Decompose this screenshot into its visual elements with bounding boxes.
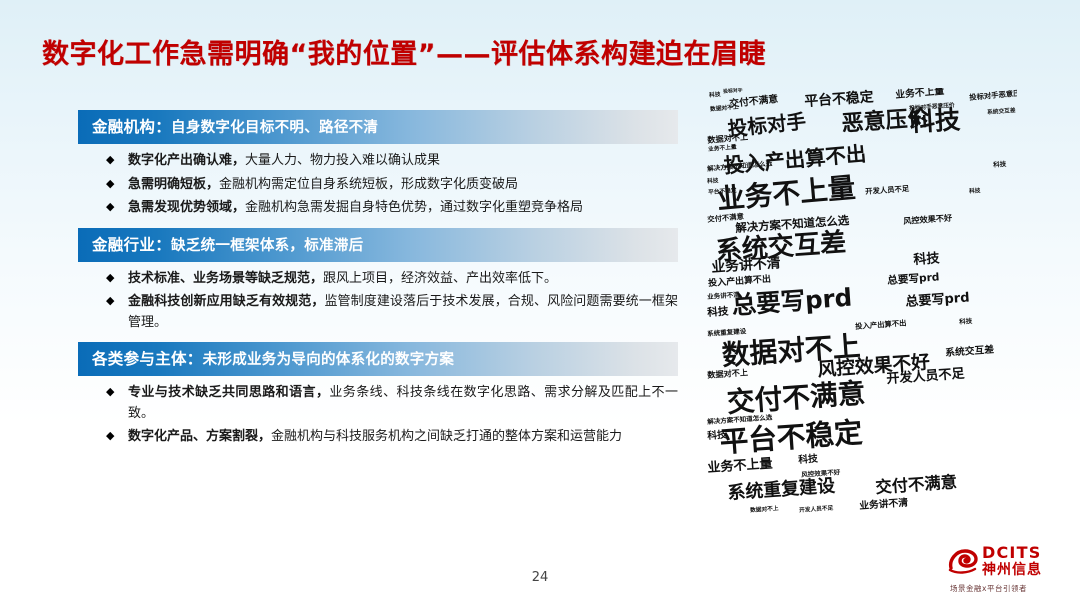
wordcloud-term: 业务不上量 [716, 174, 857, 214]
wordcloud-term: 风控效果不好 [903, 214, 952, 226]
wordcloud-term: 平台不稳定 [719, 418, 863, 456]
content-section: 各类参与主体：未形成业务为导向的体系化的数字方案◆专业与技术缺乏共同思路和语言，… [78, 342, 678, 448]
diamond-bullet-icon: ◆ [106, 175, 114, 193]
company-logo: DCITS 神州信息 场景金融x平台引领者 [948, 544, 1066, 596]
bullet-lead-text: 金融科技创新应用缺乏有效规范， [128, 294, 324, 309]
bullet-lead-text: 数字化产出确认难， [128, 153, 245, 168]
bullet-item: ◆数字化产出确认难，大量人力、物力投入难以确认成果 [106, 151, 678, 172]
diamond-bullet-icon: ◆ [106, 151, 114, 169]
page-number: 24 [0, 570, 1080, 585]
wordcloud-term: 数据对不上 [707, 368, 748, 379]
logo-english-name: DCITS [982, 545, 1042, 562]
wordcloud-term: 开发人员不足 [865, 185, 909, 195]
diamond-bullet-icon: ◆ [106, 269, 114, 287]
wordcloud-term: 交付不满意 [726, 380, 866, 417]
bullet-lead-text: 专业与技术缺乏共同思路和语言， [128, 385, 329, 400]
section-header-detail: 自身数字化目标不明、路径不清 [171, 120, 378, 136]
bullet-body-text: 金融机构急需发掘自身特色优势，通过数字化重塑竞争格局 [245, 200, 583, 215]
section-header: 金融机构：自身数字化目标不明、路径不清 [78, 110, 678, 144]
bullet-list: ◆技术标准、业务场景等缺乏规范，跟风上项目，经济效益、产出效率低下。◆金融科技创… [78, 269, 678, 334]
wordcloud-term: 科技 [909, 107, 961, 135]
bullet-body-text: 跟风上项目，经济效益、产出效率低下。 [323, 271, 557, 286]
bullet-item: ◆金融科技创新应用缺乏有效规范，监管制度建设落后于技术发展，合规、风险问题需要统… [106, 292, 678, 333]
bullet-lead-text: 急需发现优势领域， [128, 200, 245, 215]
section-header-detail: 缺乏统一框架体系，标准滞后 [171, 238, 363, 254]
wordcloud-term: 投标对手恶意压价 [969, 89, 1017, 101]
wordcloud-term: 总要写prd [905, 291, 970, 309]
wordcloud-term: 业务讲不清 [711, 257, 781, 276]
wordcloud-term: 业务讲不清 [859, 498, 908, 511]
section-header-detail: 未形成业务为导向的体系化的数字方案 [203, 352, 455, 368]
logo-text-block: DCITS 神州信息 [982, 545, 1042, 578]
wordcloud-term: 投入产出算不出 [708, 276, 771, 289]
diamond-bullet-icon: ◆ [106, 292, 114, 310]
content-section: 金融行业：缺乏统一框架体系，标准滞后◆技术标准、业务场景等缺乏规范，跟风上项目，… [78, 228, 678, 334]
bullet-lead-text: 急需明确短板， [128, 177, 219, 192]
section-header: 各类参与主体：未形成业务为导向的体系化的数字方案 [78, 342, 678, 376]
bullet-item: ◆急需明确短板，金融机构需定位自身系统短板，形成数字化质变破局 [106, 175, 678, 196]
logo-tagline: 场景金融x平台引领者 [950, 583, 1027, 594]
wordcloud-term: 平台不稳定 [804, 91, 874, 110]
dcits-emblem-icon [948, 548, 978, 574]
bullet-body-text: 金融机构需定位自身系统短板，形成数字化质变破局 [219, 177, 518, 192]
wordcloud-term: 系统重复建设 [727, 477, 836, 502]
bullet-item: ◆专业与技术缺乏共同思路和语言，业务条线、科技条线在数字化思路、需求分解及匹配上… [106, 383, 678, 424]
wordcloud-term: 数据对不上 [707, 132, 748, 144]
bullet-body-text: 金融机构与科技服务机构之间缺乏打通的整体方案和运营能力 [271, 429, 622, 444]
wordcloud-term: 总要写prd [731, 286, 853, 319]
wordcloud-term: 系统交互差 [945, 346, 994, 359]
bullet-item: ◆数字化产品、方案割裂，金融机构与科技服务机构之间缺乏打通的整体方案和运营能力 [106, 427, 678, 448]
slide-canvas: 数字化工作急需明确“我的位置”——评估体系构建迫在眉睫 金融机构：自身数字化目标… [0, 0, 1080, 607]
wordcloud-term: 数据对不上 [750, 507, 779, 515]
wordcloud-term: 科技 [709, 93, 721, 100]
section-header: 金融行业：缺乏统一框架体系，标准滞后 [78, 228, 678, 262]
section-header-label: 各类参与主体： [92, 350, 203, 368]
content-column: 金融机构：自身数字化目标不明、路径不清◆数字化产出确认难，大量人力、物力投入难以… [78, 110, 678, 457]
wordcloud-term: 科技 [913, 252, 940, 267]
bullet-list: ◆数字化产出确认难，大量人力、物力投入难以确认成果◆急需明确短板，金融机构需定位… [78, 151, 678, 219]
wordcloud-term: 开发人员不足 [799, 507, 834, 515]
wordcloud-term: 科技 [707, 306, 729, 318]
diamond-bullet-icon: ◆ [106, 383, 114, 401]
wordcloud-term: 科技 [798, 454, 818, 465]
section-header-label: 金融行业： [92, 236, 171, 254]
wordcloud-term: 数据对不上 [710, 105, 739, 113]
wordcloud-term: 投标对手 [723, 88, 743, 94]
wordcloud-term: 投入产出算不出 [855, 320, 907, 331]
wordcloud-term: 交付不满意 [875, 474, 958, 496]
content-section: 金融机构：自身数字化目标不明、路径不清◆数字化产出确认难，大量人力、物力投入难以… [78, 110, 678, 219]
diamond-bullet-icon: ◆ [106, 198, 114, 216]
bullet-item: ◆技术标准、业务场景等缺乏规范，跟风上项目，经济效益、产出效率低下。 [106, 269, 678, 290]
wordcloud-term: 系统交互差 [987, 109, 1016, 117]
logo-chinese-name: 神州信息 [982, 562, 1042, 578]
wordcloud-image: 交付不满意平台不稳定业务不上量投标对手恶意压价科技数据对不上投标对手投标对手恶意… [705, 88, 1017, 534]
wordcloud-term: 总要写prd [887, 272, 940, 286]
wordcloud-term: 业务不上量 [895, 88, 945, 101]
wordcloud-canvas: 交付不满意平台不稳定业务不上量投标对手恶意压价科技数据对不上投标对手投标对手恶意… [705, 88, 1017, 534]
bullet-lead-text: 技术标准、业务场景等缺乏规范， [128, 271, 323, 286]
diamond-bullet-icon: ◆ [106, 427, 114, 445]
bullet-list: ◆专业与技术缺乏共同思路和语言，业务条线、科技条线在数字化思路、需求分解及匹配上… [78, 383, 678, 448]
wordcloud-term: 科技 [993, 161, 1006, 168]
wordcloud-term: 科技 [959, 318, 972, 325]
bullet-body-text: 大量人力、物力投入难以确认成果 [245, 153, 440, 168]
bullet-lead-text: 数字化产品、方案割裂， [128, 429, 271, 444]
wordcloud-term: 业务不上量 [707, 457, 773, 475]
section-header-label: 金融机构： [92, 118, 171, 136]
bullet-item: ◆急需发现优势领域，金融机构急需发掘自身特色优势，通过数字化重塑竞争格局 [106, 198, 678, 219]
wordcloud-term: 系统重复建设 [707, 328, 746, 337]
wordcloud-term: 科技 [969, 189, 981, 196]
page-title: 数字化工作急需明确“我的位置”——评估体系构建迫在眉睫 [42, 32, 766, 71]
